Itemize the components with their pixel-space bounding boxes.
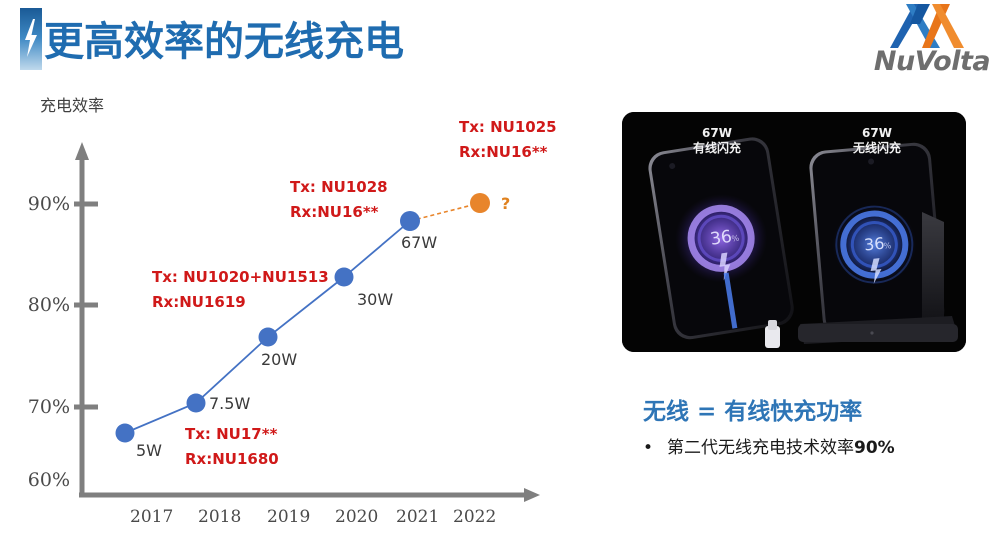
annotation-2019-tx: Tx: NU1020+NU1513 [152,265,329,290]
annotation-2022-rx: Rx:NU16** [459,140,548,165]
projection-question-mark: ? [501,194,510,213]
y-tick-label-70: 70% [12,396,70,418]
point-label-7-5w: 7.5W [209,394,250,413]
svg-text:36: 36 [863,234,885,255]
svg-text:36: 36 [709,227,734,250]
photo-caption-left-line1: 67W [702,126,732,140]
photo-caption-left-line2: 有线闪充 [693,141,741,155]
annotation-2018-rx: Rx:NU1680 [185,447,279,472]
right-panel-headline: 无线 = 有线快充功率 [643,392,862,426]
annotation-2021-rx: Rx:NU16** [290,200,379,225]
data-point-2021 [400,211,420,231]
svg-text:%: % [883,241,892,251]
x-tick-label-2022: 2022 [453,507,496,527]
title-accent-bar [20,8,42,70]
y-tick-label-60: 60% [12,469,70,491]
x-tick-label-2019: 2019 [267,507,310,527]
data-point-2017 [116,424,135,443]
x-tick-label-2018: 2018 [198,507,241,527]
data-point-2022-projected [470,193,490,213]
bullet-text: 第二代无线充电技术效率 [667,438,854,458]
point-label-5w: 5W [136,441,162,460]
point-label-20w: 20W [261,350,297,369]
annotation-2021-tx: Tx: NU1028 [290,175,388,200]
point-label-67w: 67W [401,233,437,252]
x-tick-label-2021: 2021 [396,507,439,527]
charging-comparison-photo: 36 % 36 % [622,112,966,352]
data-point-2018 [187,394,206,413]
annotation-2022-tx: Tx: NU1025 [459,115,557,140]
photo-caption-left: 67W 有线闪充 [662,126,772,156]
y-axis-arrowhead [75,142,89,160]
annotation-2018-tx: Tx: NU17** [185,422,277,447]
page-title: 更高效率的无线充电 [44,9,404,67]
photo-caption-right: 67W 无线闪充 [822,126,932,156]
bullet-marker: • [643,438,667,458]
x-tick-label-2020: 2020 [335,507,378,527]
point-label-30w: 30W [357,290,393,309]
data-point-2020 [335,268,354,287]
lightning-bolt-icon [22,16,40,60]
series-line-projected [410,203,480,221]
bullet-value: 90% [854,438,895,458]
data-point-2019 [259,328,278,347]
nuvolta-mark-icon [890,2,974,50]
photo-caption-right-line2: 无线闪充 [853,141,901,155]
x-axis-arrowhead [524,488,540,502]
efficiency-chart: 充电效率 90% 80% 70% 60% 2017 2018 2019 [0,86,600,540]
logo-wordmark: NuVolta [866,46,998,77]
slide-header: 更高效率的无线充电 NuVolta [0,0,1006,92]
photo-caption-right-line1: 67W [862,126,892,140]
x-tick-label-2017: 2017 [130,507,173,527]
y-tick-label-90: 90% [12,193,70,215]
right-panel-bullet: •第二代无线充电技术效率90% [643,433,983,458]
nuvolta-logo: NuVolta [866,2,998,84]
series-line-achieved [125,221,410,433]
annotation-2019-rx: Rx:NU1619 [152,290,246,315]
y-tick-label-80: 80% [12,294,70,316]
